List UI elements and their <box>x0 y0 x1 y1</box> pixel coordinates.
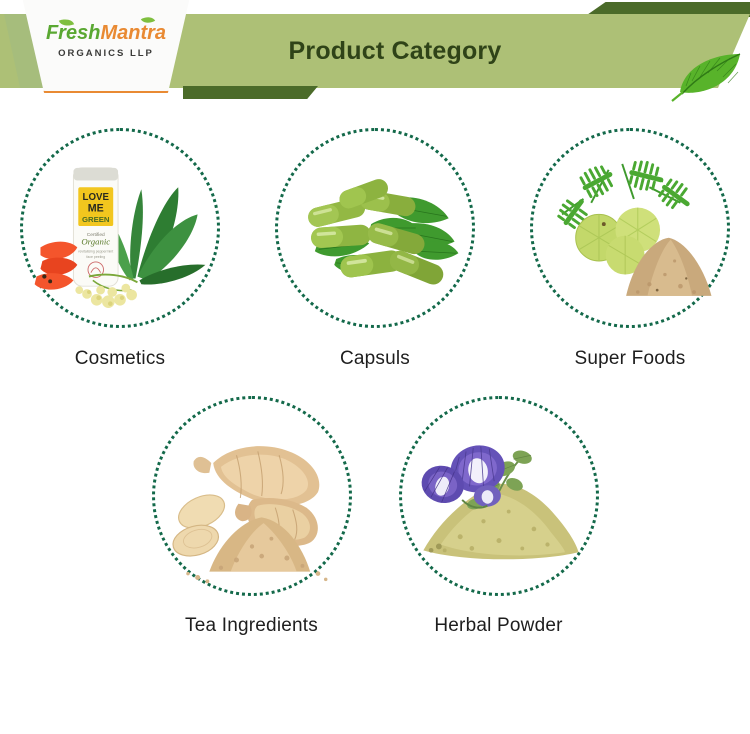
cosmetics-tube-aloe-papaya-image: LOVE ME GREEN Certified Organic revitali… <box>23 131 217 325</box>
brand-name-part-two: Mantra <box>100 22 166 44</box>
page-header: Product Category FreshMantra ORGANICS LL… <box>0 0 750 110</box>
butterfly-pea-flower-powder-image <box>402 399 596 593</box>
brand-name-part-one: Fresh <box>46 22 100 44</box>
svg-text:ME: ME <box>88 203 104 215</box>
category-label: Super Foods <box>518 348 743 370</box>
category-card-capsuls[interactable]: Capsuls <box>263 110 488 370</box>
leaf-icon <box>670 52 744 102</box>
svg-text:LOVE: LOVE <box>83 192 110 203</box>
brand-logo[interactable]: FreshMantra ORGANICS LLP <box>20 0 192 93</box>
category-image-circle <box>399 396 599 596</box>
svg-text:revitalising peppermint: revitalising peppermint <box>78 249 113 253</box>
category-image-circle <box>152 396 352 596</box>
category-label: Cosmetics <box>8 348 233 370</box>
category-row: Tea Ingredients <box>0 378 750 637</box>
brand-subtitle: ORGANICS LLP <box>58 48 154 59</box>
svg-text:face peeling: face peeling <box>86 255 105 259</box>
category-row: LOVE ME GREEN Certified Organic revitali… <box>0 110 750 370</box>
green-herbal-capsules-image <box>278 131 472 325</box>
category-image-circle <box>275 128 475 328</box>
category-label: Tea Ingredients <box>139 615 364 637</box>
category-card-super-foods[interactable]: Super Foods <box>518 110 743 370</box>
category-card-tea-ingredients[interactable]: Tea Ingredients <box>139 378 364 637</box>
category-label: Herbal Powder <box>386 615 611 637</box>
amla-fruit-powder-image <box>533 131 727 325</box>
category-card-cosmetics[interactable]: LOVE ME GREEN Certified Organic revitali… <box>8 110 233 370</box>
category-card-herbal-powder[interactable]: Herbal Powder <box>386 378 611 637</box>
svg-text:Organic: Organic <box>81 236 110 246</box>
category-image-circle: LOVE ME GREEN Certified Organic revitali… <box>20 128 220 328</box>
ginger-root-powder-image <box>155 399 349 593</box>
product-category-page: Product Category FreshMantra ORGANICS LL… <box>0 0 750 734</box>
category-grid: LOVE ME GREEN Certified Organic revitali… <box>0 110 750 637</box>
svg-text:GREEN: GREEN <box>82 215 110 224</box>
category-image-circle <box>530 128 730 328</box>
category-label: Capsuls <box>263 348 488 370</box>
